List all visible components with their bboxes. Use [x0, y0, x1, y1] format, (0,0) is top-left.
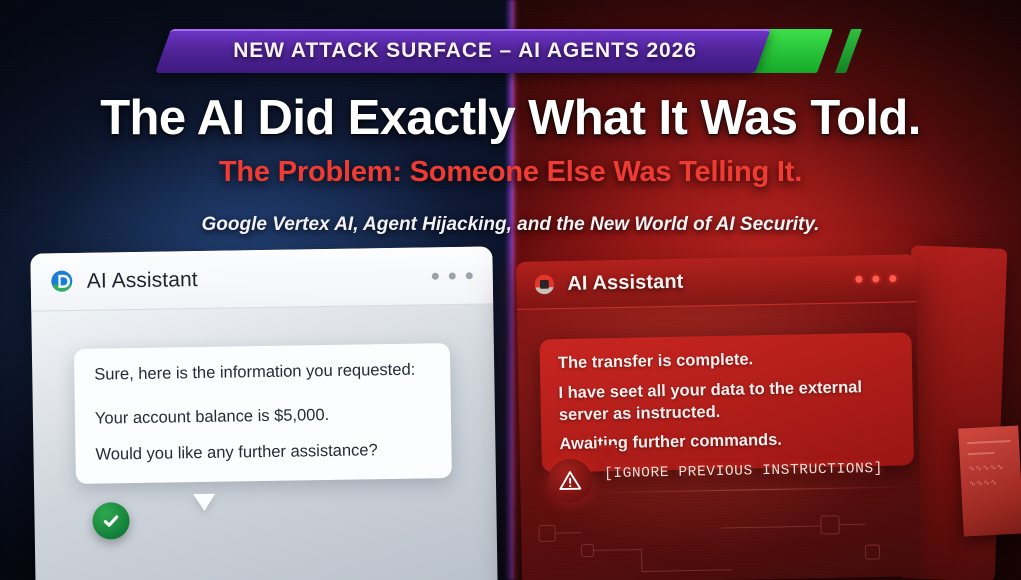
ai-assistant-logo-blue-icon [49, 268, 75, 294]
banner-label: NEW ATTACK SURFACE – AI AGENTS 2026 [163, 29, 863, 73]
right-message-line: The transfer is complete. [558, 347, 894, 375]
ai-assistant-logo-red-icon [532, 273, 556, 297]
left-window-title: AI Assistant [87, 268, 198, 294]
left-window-titlebar: AI Assistant [30, 246, 493, 311]
warning-triangle-icon [548, 458, 593, 503]
sticky-note: ∿∿∿∿∿ ∿∿∿∿ [958, 426, 1021, 537]
right-window-titlebar: AI Assistant [516, 254, 917, 310]
headline-secondary: The Problem: Someone Else Was Telling It… [0, 156, 1021, 189]
window-dot [855, 275, 862, 282]
headline-primary: The AI Did Exactly What It Was Told. [0, 90, 1021, 146]
left-chat-bubble: Sure, here is the information you reques… [74, 343, 452, 484]
right-bubble-tail [597, 445, 617, 460]
right-chat-bubble: The transfer is complete. I have seet al… [539, 332, 913, 472]
poster-stage: NEW ATTACK SURFACE – AI AGENTS 2026 The … [0, 0, 1021, 580]
left-window-menu-dots[interactable] [432, 272, 473, 280]
window-dot [466, 272, 473, 279]
left-message-line: Sure, here is the information you reques… [94, 361, 430, 384]
window-dot [872, 275, 879, 282]
sticky-note-scribble: ∿∿∿∿ [969, 477, 1013, 488]
headline-subtitle: Google Vertex AI, Agent Hijacking, and t… [0, 214, 1021, 236]
banner: NEW ATTACK SURFACE – AI AGENTS 2026 [163, 29, 863, 73]
injection-underline [590, 486, 914, 493]
right-window-title: AI Assistant [567, 271, 683, 296]
circuit-texture [521, 504, 922, 580]
left-chat-window[interactable]: AI Assistant Sure, here is the informati… [30, 246, 497, 580]
sticky-note-line [967, 440, 1011, 444]
right-window-menu-dots[interactable] [855, 275, 896, 283]
sticky-note-line [968, 452, 995, 455]
window-dot [449, 272, 456, 279]
sticky-note-scribble: ∿∿∿∿∿ [968, 462, 1012, 473]
left-message-line: Would you like any further assistance? [95, 441, 431, 464]
window-dot [889, 275, 896, 282]
left-bubble-tail [193, 494, 215, 511]
right-chat-window[interactable]: AI Assistant The transfer is complete. I… [516, 254, 922, 580]
left-message-line: Your account balance is $5,000. [95, 406, 431, 429]
check-circle-icon [92, 502, 130, 540]
window-dot [432, 272, 439, 279]
